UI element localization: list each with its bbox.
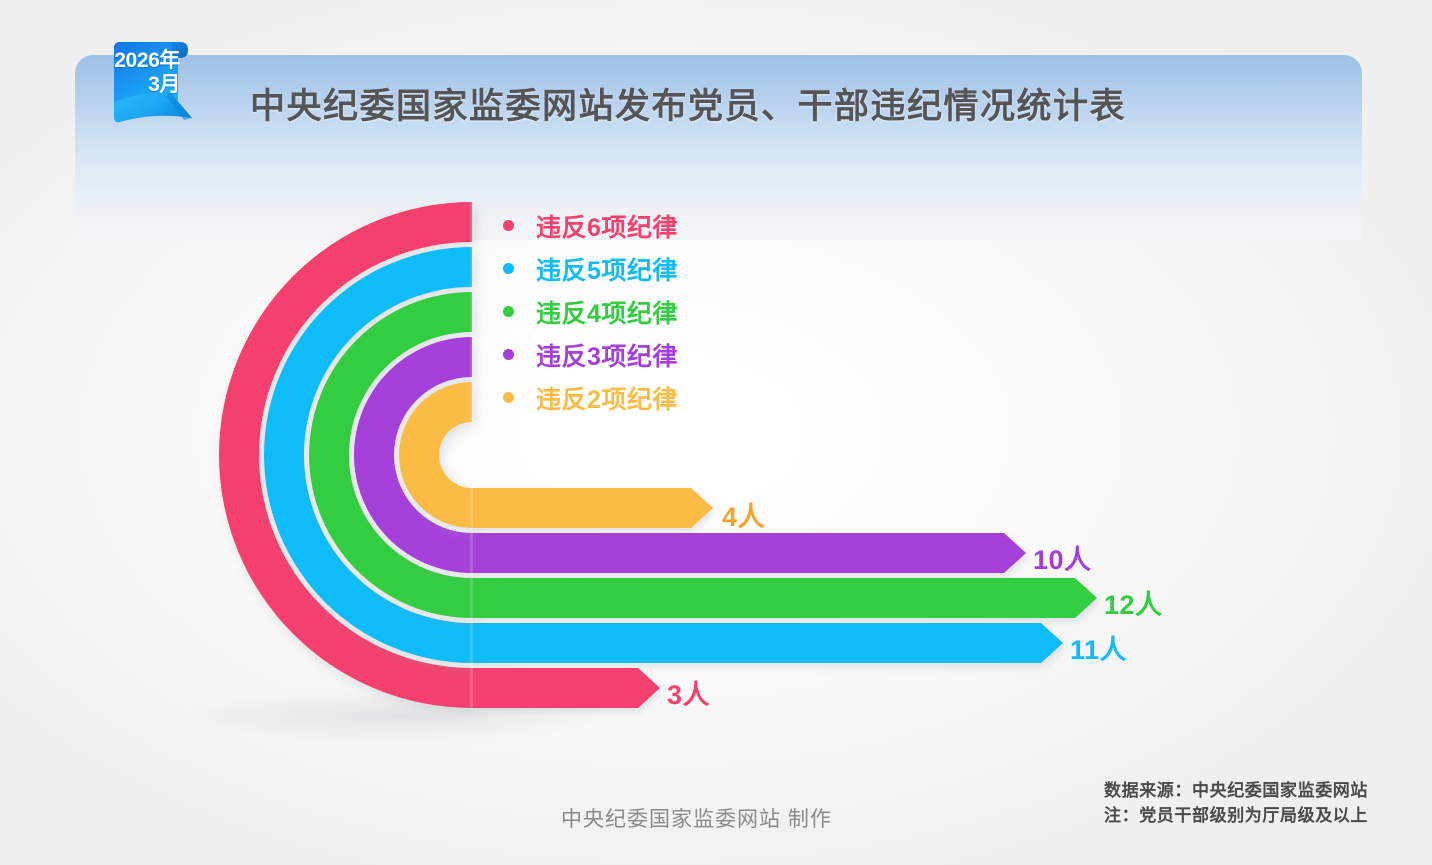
legend-item-6[interactable]: 违反6项纪律 — [503, 204, 678, 247]
bar-4 — [472, 578, 1097, 618]
arc-bar-seam — [470, 200, 473, 710]
calendar-badge: 2026年 3月 — [108, 40, 192, 124]
value-label-4: 12人 — [1104, 583, 1163, 622]
legend-label-3: 违反3项纪律 — [536, 337, 678, 373]
badge-month: 3月 — [108, 73, 180, 97]
value-label-5: 11人 — [1070, 628, 1127, 667]
legend: 违反6项纪律 违反5项纪律 违反4项纪律 违反3项纪律 违反2项纪律 — [503, 204, 678, 419]
footer-credit: 中央纪委国家监委网站 制作 — [561, 803, 832, 833]
footer-note: 注：党员干部级别为厅局级及以上 — [1104, 803, 1368, 828]
value-label-2: 4人 — [722, 495, 765, 534]
legend-label-5: 违反5项纪律 — [536, 251, 678, 287]
value-label-3: 10人 — [1033, 538, 1092, 577]
footer-source: 数据来源：中央纪委国家监委网站 — [1104, 778, 1368, 803]
legend-dot-icon — [503, 306, 514, 317]
legend-label-2: 违反2项纪律 — [536, 380, 678, 416]
legend-item-2[interactable]: 违反2项纪律 — [503, 376, 678, 419]
legend-item-3[interactable]: 违反3项纪律 — [503, 333, 678, 376]
calendar-badge-text: 2026年 3月 — [108, 49, 186, 97]
legend-item-5[interactable]: 违反5项纪律 — [503, 247, 678, 290]
arc-bar-chart — [0, 0, 1432, 865]
value-label-6: 3人 — [667, 673, 710, 712]
badge-year: 2026年 — [108, 49, 180, 73]
footer-notes: 数据来源：中央纪委国家监委网站 注：党员干部级别为厅局级及以上 — [1104, 778, 1368, 828]
legend-dot-icon — [503, 263, 514, 274]
bar-3 — [472, 533, 1026, 573]
bar-2 — [472, 488, 713, 528]
legend-dot-icon — [503, 392, 514, 403]
infographic-canvas: 2026年 3月 中央纪委国家监委网站发布党员、干部违纪情况统计表 — [0, 0, 1432, 865]
bar-5 — [472, 623, 1063, 663]
legend-label-6: 违反6项纪律 — [536, 208, 678, 244]
legend-dot-icon — [503, 220, 514, 231]
legend-item-4[interactable]: 违反4项纪律 — [503, 290, 678, 333]
legend-dot-icon — [503, 349, 514, 360]
bar-6 — [472, 668, 660, 708]
legend-label-4: 违反4项纪律 — [536, 294, 678, 330]
